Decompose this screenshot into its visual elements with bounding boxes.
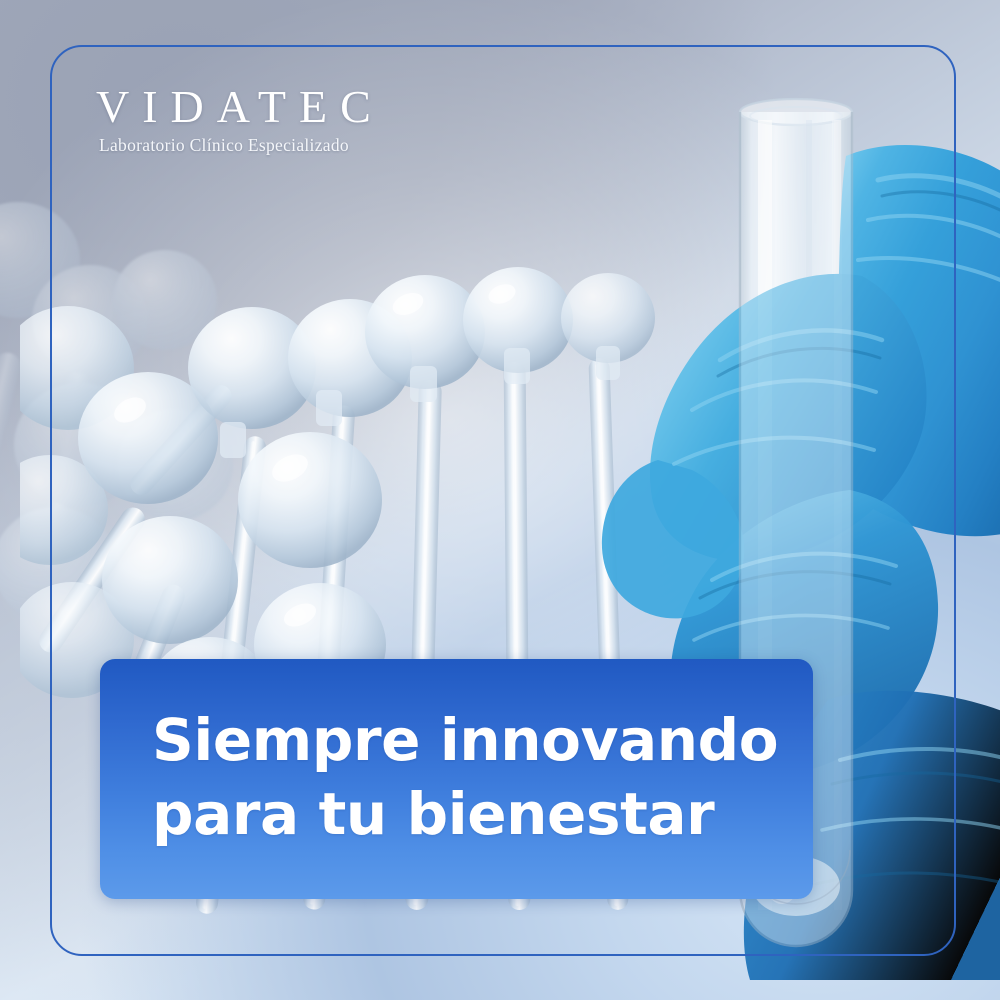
headline-banner: Siempre innovando para tu bienestar bbox=[100, 659, 813, 899]
headline-line-1: Siempre innovando bbox=[152, 703, 813, 777]
headline-line-2: para tu bienestar bbox=[152, 777, 813, 851]
brand-name: VIDATEC bbox=[96, 84, 516, 131]
brand-logo: VIDATEC Laboratorio Clínico Especializad… bbox=[96, 84, 516, 156]
brand-tagline: Laboratorio Clínico Especializado bbox=[99, 135, 516, 156]
poster-canvas: VIDATEC Laboratorio Clínico Especializad… bbox=[0, 0, 1000, 1000]
